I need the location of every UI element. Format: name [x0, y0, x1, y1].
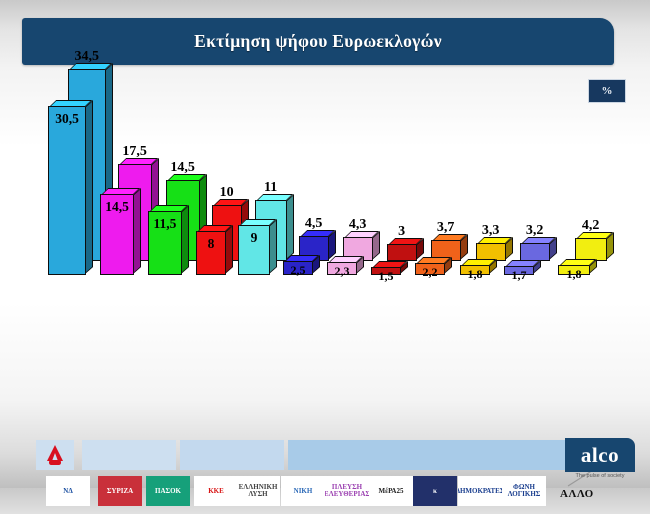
bar-group: 4,21,8: [558, 274, 612, 275]
bar-side-face: [133, 188, 141, 274]
footer-block-2: [180, 440, 284, 470]
party-logo-label: ΚΚΕ: [208, 488, 224, 495]
bar-value-label-front: 1,5: [372, 269, 400, 284]
bar-value-label-front: 14,5: [101, 199, 133, 215]
bar-front: 30,5: [48, 106, 86, 275]
party-logo-5: ΝΙΚΗ: [281, 476, 325, 506]
bar-value-label-front: 8: [197, 236, 225, 252]
bar-front: 1,5: [371, 267, 401, 275]
bar-value-label-back: 4,2: [569, 218, 613, 234]
party-logo-label: ΦΩΝΗ ΛΟΓΙΚΗΣ: [502, 484, 546, 498]
party-logo-4: ΕΛΛΗΝΙΚΗ ΛΥΣΗ: [236, 476, 280, 506]
bar-side-face: [269, 219, 277, 274]
bar-value-label-front: 1,8: [559, 267, 589, 282]
bar-front: 1,8: [558, 265, 590, 275]
bar-value-label-front: 1,8: [461, 267, 489, 282]
bar-value-label-front: 2,2: [416, 265, 444, 280]
bar-value-label-front: 9: [239, 230, 269, 246]
party-logo-label: ΠΑΣΟΚ: [155, 488, 181, 495]
party-logo-label: ΔΗΜΟΚΡΑΤΕΣ: [458, 488, 502, 495]
party-logo-10: ΦΩΝΗ ΛΟΓΙΚΗΣ: [502, 476, 546, 506]
bar-value-label-back: 14,5: [160, 160, 206, 176]
bar-side-face: [225, 225, 233, 274]
bar-front: 11,5: [148, 211, 182, 275]
bar-chart: 34,530,517,514,514,511,51081194,52,54,32…: [0, 120, 650, 360]
bar-front: 1,7: [504, 266, 534, 275]
bar-value-label-front: 2,5: [284, 263, 312, 278]
party-logo-1: ΣΥΡΙΖΑ: [98, 476, 142, 506]
party-logo-9: ΔΗΜΟΚΡΑΤΕΣ: [458, 476, 502, 506]
party-logo-label: ΜέΡΑ25: [379, 488, 404, 495]
party-logo-label: ΣΥΡΙΖΑ: [107, 488, 133, 495]
bar-value-label-front: 30,5: [49, 111, 85, 127]
bar-group: 34,530,5: [48, 274, 108, 275]
bar-side-face: [181, 205, 189, 274]
bar-value-label-back: 3: [381, 224, 423, 240]
footer-bar: alco The pulse of society: [0, 432, 650, 478]
bar-value-label-back: 4,5: [293, 216, 335, 232]
a-news-icon: [45, 444, 65, 466]
party-logo-2: ΠΑΣΟΚ: [146, 476, 190, 506]
bar-back: [575, 238, 607, 261]
bar-front: 2,5: [283, 261, 313, 275]
slide-root: Εκτίμηση ψήφου Ευρωεκλογών % 34,530,517,…: [0, 0, 650, 488]
percent-badge: %: [588, 79, 626, 103]
bar-back: [387, 244, 417, 261]
bar-value-label-back: 4,3: [337, 217, 379, 233]
axis-label-allo: ΑΛΛΟ: [560, 488, 594, 500]
bar-value-label-back: 3,7: [425, 220, 467, 236]
page-title: Εκτίμηση ψήφου Ευρωεκλογών: [194, 31, 442, 52]
alco-wordmark: alco: [581, 445, 619, 466]
bar-value-label-back: 3,2: [514, 223, 556, 239]
bar-value-label-front: 11,5: [149, 216, 181, 232]
party-logo-7: ΜέΡΑ25: [369, 476, 413, 506]
bar-value-label-back: 17,5: [112, 144, 158, 160]
bar-front: 1,8: [460, 265, 490, 275]
bar-value-label-front: 1,7: [505, 268, 533, 283]
bar-group: 3,21,7: [504, 274, 556, 275]
party-logo-8: κ: [413, 476, 457, 506]
party-logo-3: ΚΚΕ: [194, 476, 238, 506]
alco-logo: alco: [565, 438, 635, 472]
bar-value-label-back: 10: [206, 185, 248, 201]
party-logo-label: ΝΔ: [63, 488, 72, 495]
party-logo-label: κ: [433, 488, 437, 495]
bar-value-label-back: 34,5: [62, 49, 112, 65]
footer-block-1: [82, 440, 176, 470]
bar-front: 2,2: [415, 263, 445, 275]
party-logo-6: ΠΛΕΥΣΗ ΕΛΕΥΘΕΡΙΑΣ: [325, 476, 369, 506]
bar-front: 2,3: [327, 262, 357, 275]
bar-side-face: [85, 100, 93, 274]
bar-side-face: [372, 231, 380, 260]
party-logo-label: ΠΛΕΥΣΗ ΕΛΕΥΘΕΡΙΑΣ: [325, 484, 369, 498]
a-news-logo: [36, 440, 74, 470]
bar-front: 14,5: [100, 194, 134, 275]
party-logo-row: ΝΔΣΥΡΙΖΑΠΑΣΟΚΚΚΕΕΛΛΗΝΙΚΗ ΛΥΣΗΝΙΚΗΠΛΕΥΣΗ …: [0, 476, 650, 514]
alco-tagline: The pulse of society: [565, 473, 635, 479]
party-logo-label: ΝΙΚΗ: [294, 488, 313, 495]
bar-front: 8: [196, 231, 226, 275]
bar-front: 9: [238, 225, 270, 275]
footer-block-3: [288, 440, 571, 470]
party-logo-label: ΕΛΛΗΝΙΚΗ ΛΥΣΗ: [236, 484, 280, 498]
bar-back: [520, 243, 550, 261]
bar-value-label-back: 3,3: [470, 223, 512, 239]
bar-value-label-front: 2,3: [328, 264, 356, 279]
party-logo-0: ΝΔ: [46, 476, 90, 506]
bar-value-label-back: 11: [249, 180, 293, 196]
